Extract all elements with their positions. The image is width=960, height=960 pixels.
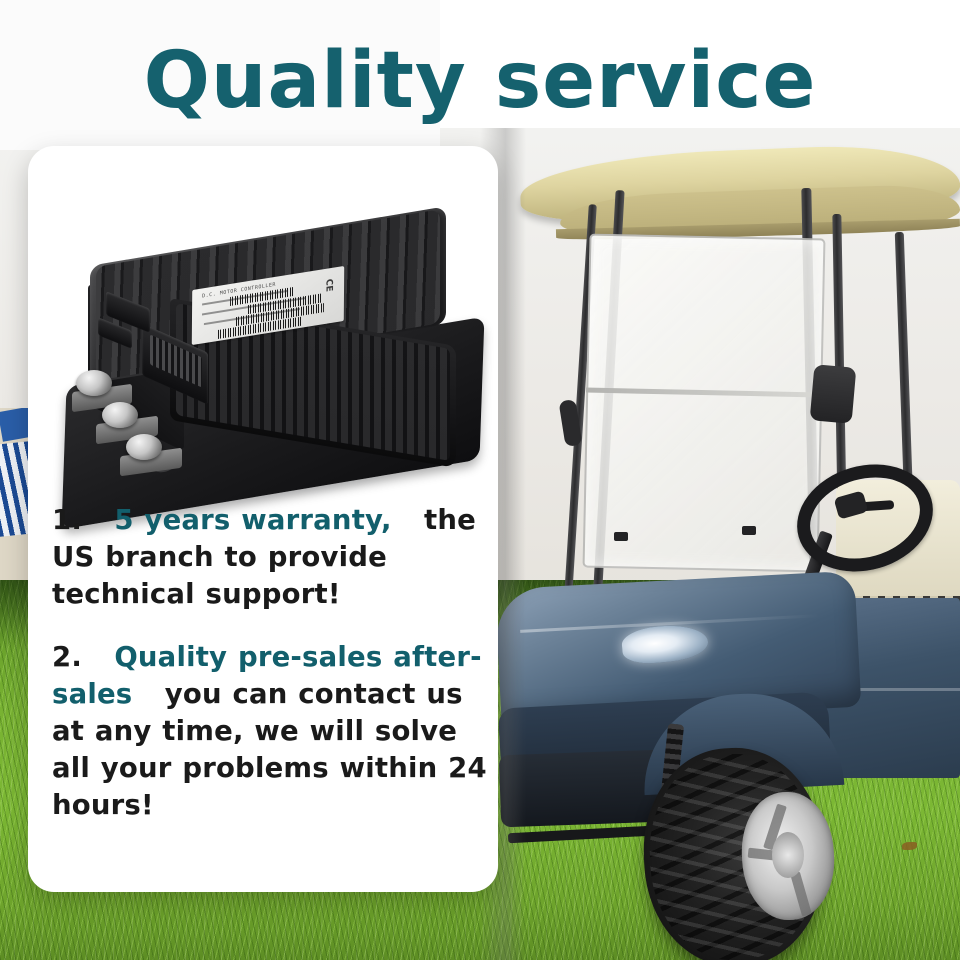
feature-item-1: 1. 5 years warranty, the US branch to pr…	[52, 502, 492, 613]
page-title: Quality service	[0, 38, 960, 124]
ce-mark-icon: CE	[324, 278, 334, 292]
product-photo-dc-motor-controller: D.C. MOTOR CONTROLLER CE	[46, 194, 486, 524]
power-terminal-bolt	[102, 402, 138, 428]
cart-windshield	[583, 234, 826, 573]
power-terminal-bolt	[76, 370, 112, 396]
power-terminal-bolt	[126, 434, 162, 460]
features-list: 1. 5 years warranty, the US branch to pr…	[52, 502, 492, 850]
promo-banner: Quality service D.C. MOTOR CONTROLLER	[0, 0, 960, 960]
rim-hub-cap	[772, 832, 804, 878]
side-mirror-right	[810, 364, 857, 423]
feature-1-highlight: 5 years warranty,	[114, 504, 391, 536]
info-card: D.C. MOTOR CONTROLLER CE	[28, 146, 498, 892]
windshield-clip	[614, 532, 628, 541]
feature-item-2: 2. Quality pre-sales after-sales you can…	[52, 639, 492, 824]
feature-1-number: 1.	[52, 504, 82, 536]
windshield-clip	[742, 526, 756, 535]
feature-2-number: 2.	[52, 641, 82, 673]
